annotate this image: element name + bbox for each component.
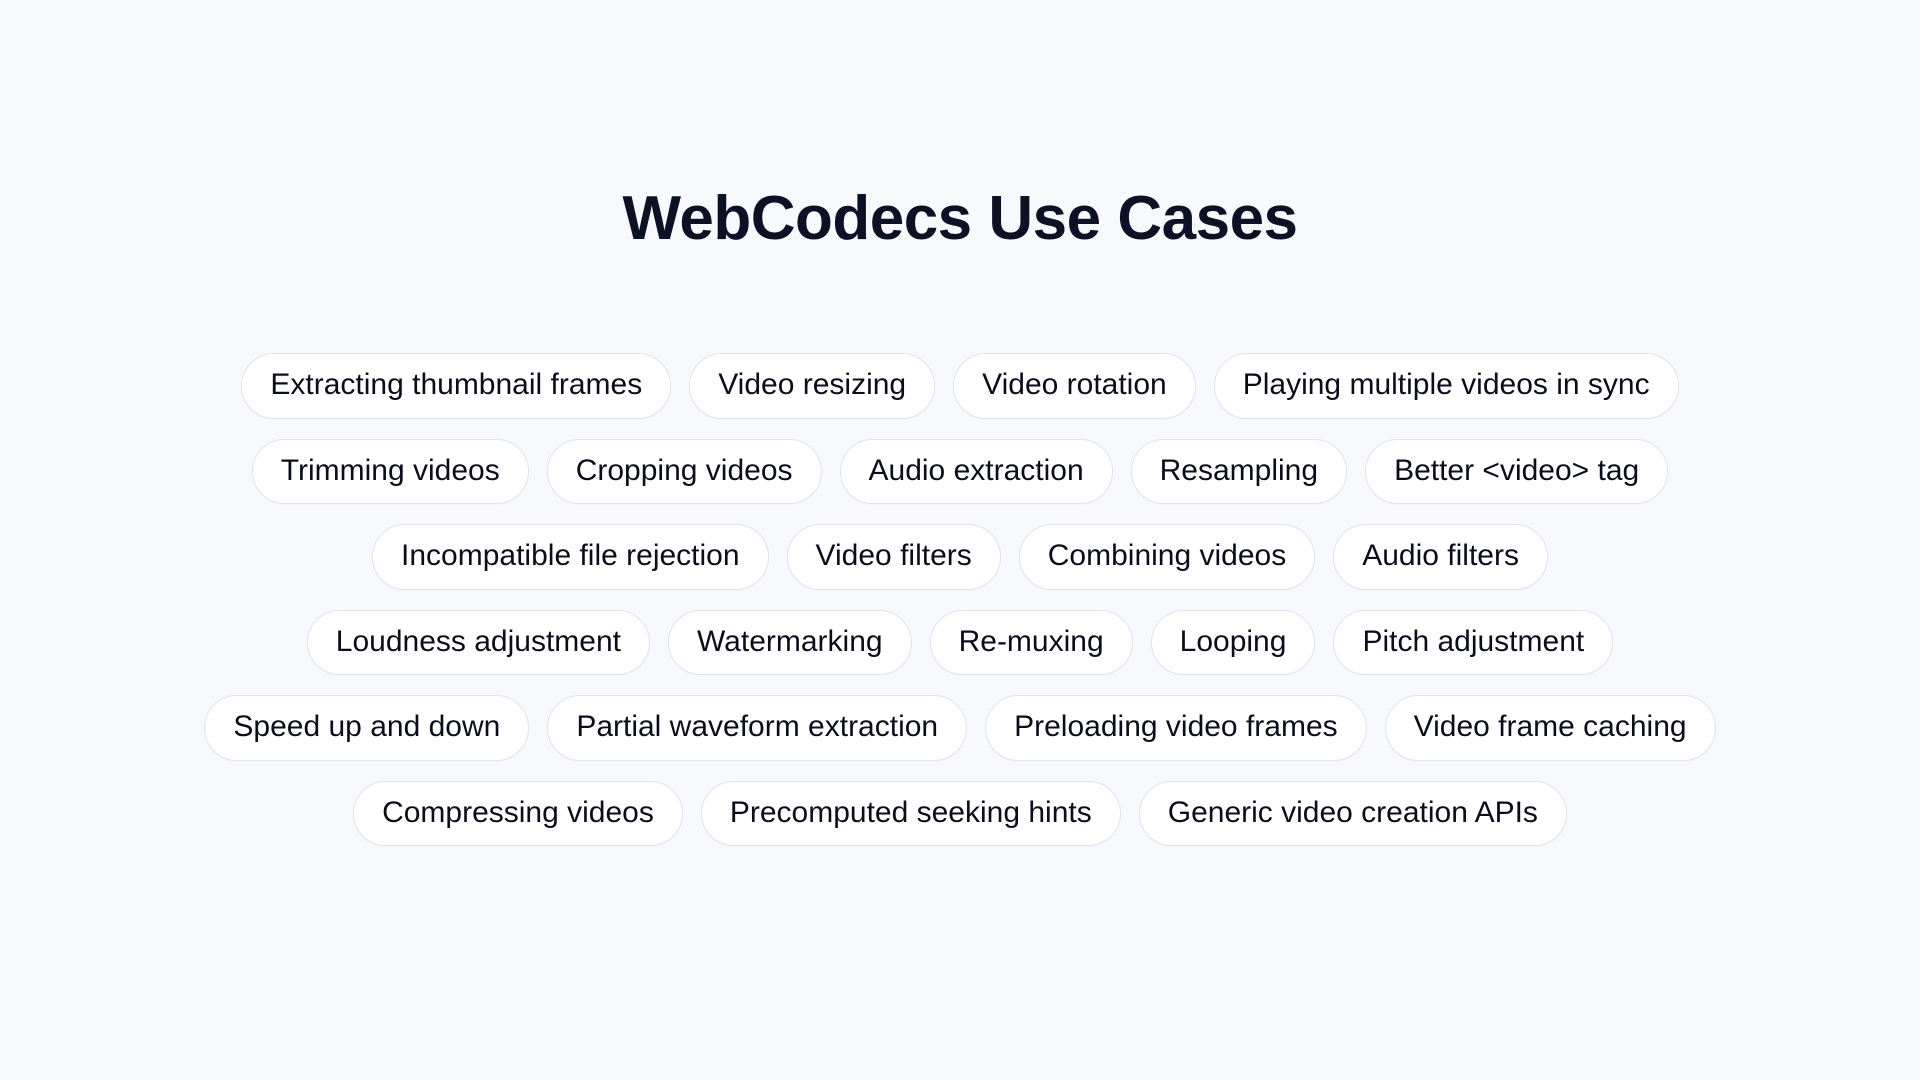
tag-pill[interactable]: Audio extraction [840, 439, 1113, 505]
tag-pill[interactable]: Video filters [787, 524, 1001, 590]
tag-pill[interactable]: Watermarking [668, 610, 912, 676]
tag-pill[interactable]: Resampling [1131, 439, 1347, 505]
page-title: WebCodecs Use Cases [622, 186, 1297, 251]
tag-cloud: Extracting thumbnail frames Video resizi… [150, 353, 1770, 846]
page-root: WebCodecs Use Cases Extracting thumbnail… [0, 0, 1920, 1080]
tag-pill[interactable]: Better <video> tag [1365, 439, 1668, 505]
tag-row: Loudness adjustment Watermarking Re-muxi… [150, 610, 1770, 676]
tag-pill[interactable]: Extracting thumbnail frames [241, 353, 671, 419]
tag-pill[interactable]: Re-muxing [930, 610, 1133, 676]
tag-row: Speed up and down Partial waveform extra… [150, 695, 1770, 761]
tag-pill[interactable]: Combining videos [1019, 524, 1315, 590]
tag-pill[interactable]: Playing multiple videos in sync [1214, 353, 1679, 419]
tag-pill[interactable]: Partial waveform extraction [547, 695, 967, 761]
tag-pill[interactable]: Compressing videos [353, 781, 683, 847]
tag-row: Compressing videos Precomputed seeking h… [150, 781, 1770, 847]
tag-pill[interactable]: Preloading video frames [985, 695, 1367, 761]
tag-pill[interactable]: Video resizing [689, 353, 935, 419]
tag-pill[interactable]: Incompatible file rejection [372, 524, 769, 590]
tag-row: Extracting thumbnail frames Video resizi… [150, 353, 1770, 419]
tag-row: Trimming videos Cropping videos Audio ex… [150, 439, 1770, 505]
tag-pill[interactable]: Trimming videos [252, 439, 529, 505]
tag-pill[interactable]: Pitch adjustment [1333, 610, 1613, 676]
tag-pill[interactable]: Video rotation [953, 353, 1196, 419]
tag-pill[interactable]: Precomputed seeking hints [701, 781, 1121, 847]
tag-pill[interactable]: Audio filters [1333, 524, 1548, 590]
tag-pill[interactable]: Cropping videos [547, 439, 822, 505]
tag-pill[interactable]: Loudness adjustment [307, 610, 650, 676]
tag-row: Incompatible file rejection Video filter… [150, 524, 1770, 590]
tag-pill[interactable]: Looping [1151, 610, 1316, 676]
tag-pill[interactable]: Speed up and down [204, 695, 529, 761]
tag-pill[interactable]: Video frame caching [1385, 695, 1716, 761]
tag-pill[interactable]: Generic video creation APIs [1139, 781, 1567, 847]
